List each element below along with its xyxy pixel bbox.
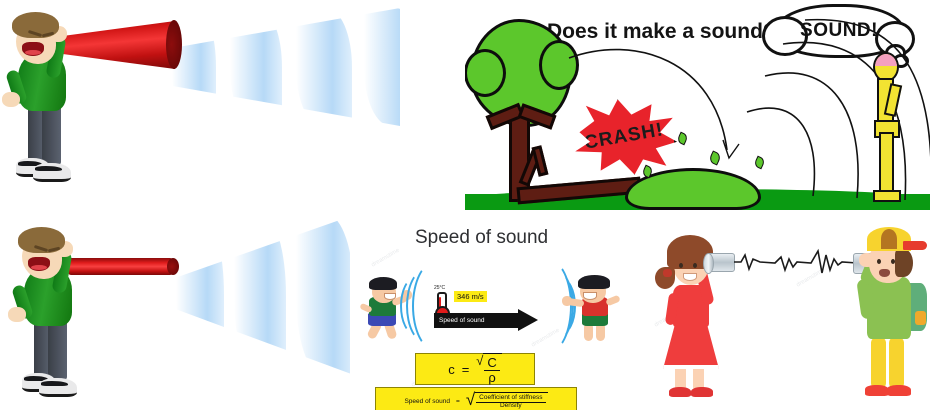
thought-bubble: SOUND! — [773, 4, 905, 58]
boy-open-mouth — [879, 269, 890, 277]
radical-content: C ρ — [483, 353, 501, 384]
man-hand — [8, 307, 26, 322]
wave-band — [230, 8, 282, 126]
panel-tin-can-phone: dreamstime dreamstime dreamstime — [635, 215, 930, 410]
wave-band — [176, 215, 224, 375]
radical-sign: √ — [476, 353, 483, 384]
fraction-numerator: C — [484, 356, 499, 371]
man-open-mouth — [28, 257, 50, 271]
sound-collage: Does it make a sound? SOUND! CRASH! — [0, 0, 930, 410]
man-shoe — [33, 163, 71, 182]
boy-shoe — [887, 385, 911, 396]
thermometer-temp: 25°C — [434, 285, 445, 291]
man-leg — [48, 318, 67, 380]
stick-figure-leg — [879, 132, 894, 198]
boy-pants-leg — [889, 337, 904, 389]
thought-text: SOUND! — [776, 7, 902, 55]
fraction-denominator: Density — [497, 403, 525, 410]
man-shoe — [39, 378, 77, 397]
kid-arm — [605, 295, 621, 307]
formula-equals: = — [462, 362, 470, 377]
wave-band — [296, 215, 354, 375]
formula-equals: = — [456, 398, 460, 405]
boy-eye — [891, 259, 895, 264]
boy-eye — [877, 259, 881, 264]
formula-lhs: c — [448, 362, 455, 377]
radical-sign: √ — [466, 392, 475, 410]
backpack-pocket — [915, 311, 926, 325]
man-with-megaphone — [2, 8, 94, 180]
formula-symbolic: c = √ C ρ — [415, 353, 535, 385]
boy-cap-brim — [903, 241, 927, 250]
sound-wave-fan-tube — [172, 215, 354, 375]
wave-band — [364, 8, 422, 126]
boy-hair-side — [895, 249, 913, 277]
boy-speaking — [845, 219, 930, 407]
kid-smile — [384, 293, 396, 300]
kid-right-listening — [562, 275, 620, 341]
formula-worded: Speed of sound = √ Coefficient of stiffn… — [375, 387, 577, 410]
man-leg — [42, 103, 61, 165]
fraction-denominator: ρ — [485, 371, 498, 385]
formula-lhs: Speed of sound — [404, 398, 450, 405]
boy-pants-leg — [871, 337, 886, 389]
cap-panel — [881, 229, 897, 249]
wave-band — [234, 215, 286, 375]
kid-smile — [583, 292, 597, 300]
speed-value-chip: 346 m/s — [454, 291, 487, 302]
panel-speed-of-sound: dreamstime dreamstime dreamstime Speed o… — [350, 215, 640, 410]
tube-opening — [167, 258, 179, 275]
radical-content: Coefficient of stiffness Density — [475, 392, 547, 410]
speed-of-sound-title: Speed of sound — [415, 227, 548, 249]
sound-wave-fan-cone — [172, 8, 400, 126]
panel-megaphone-tube — [0, 205, 355, 410]
man-open-mouth — [22, 42, 44, 56]
fraction: C ρ — [484, 356, 499, 384]
man-hand — [2, 92, 20, 107]
kid-hair — [578, 275, 610, 289]
stick-figure-listener — [863, 52, 907, 200]
boy-shoe — [865, 385, 889, 396]
formula-radical: √ Coefficient of stiffness Density — [466, 392, 548, 410]
panel-megaphone-cone — [0, 0, 465, 205]
cone-mouth-opening — [166, 20, 182, 69]
panel-tree-falls: Does it make a sound? SOUND! CRASH! — [465, 0, 930, 210]
watermark: dreamstime — [371, 248, 401, 269]
wave-band — [296, 8, 352, 126]
fraction: Coefficient of stiffness Density — [476, 395, 545, 410]
stick-figure-foot — [873, 190, 901, 202]
kid-hair — [369, 277, 397, 290]
speed-arrow-label: Speed of sound — [439, 317, 485, 324]
kid-hand — [562, 296, 572, 306]
man-with-tube — [8, 223, 100, 395]
formula-radical: √ C ρ — [476, 353, 502, 384]
